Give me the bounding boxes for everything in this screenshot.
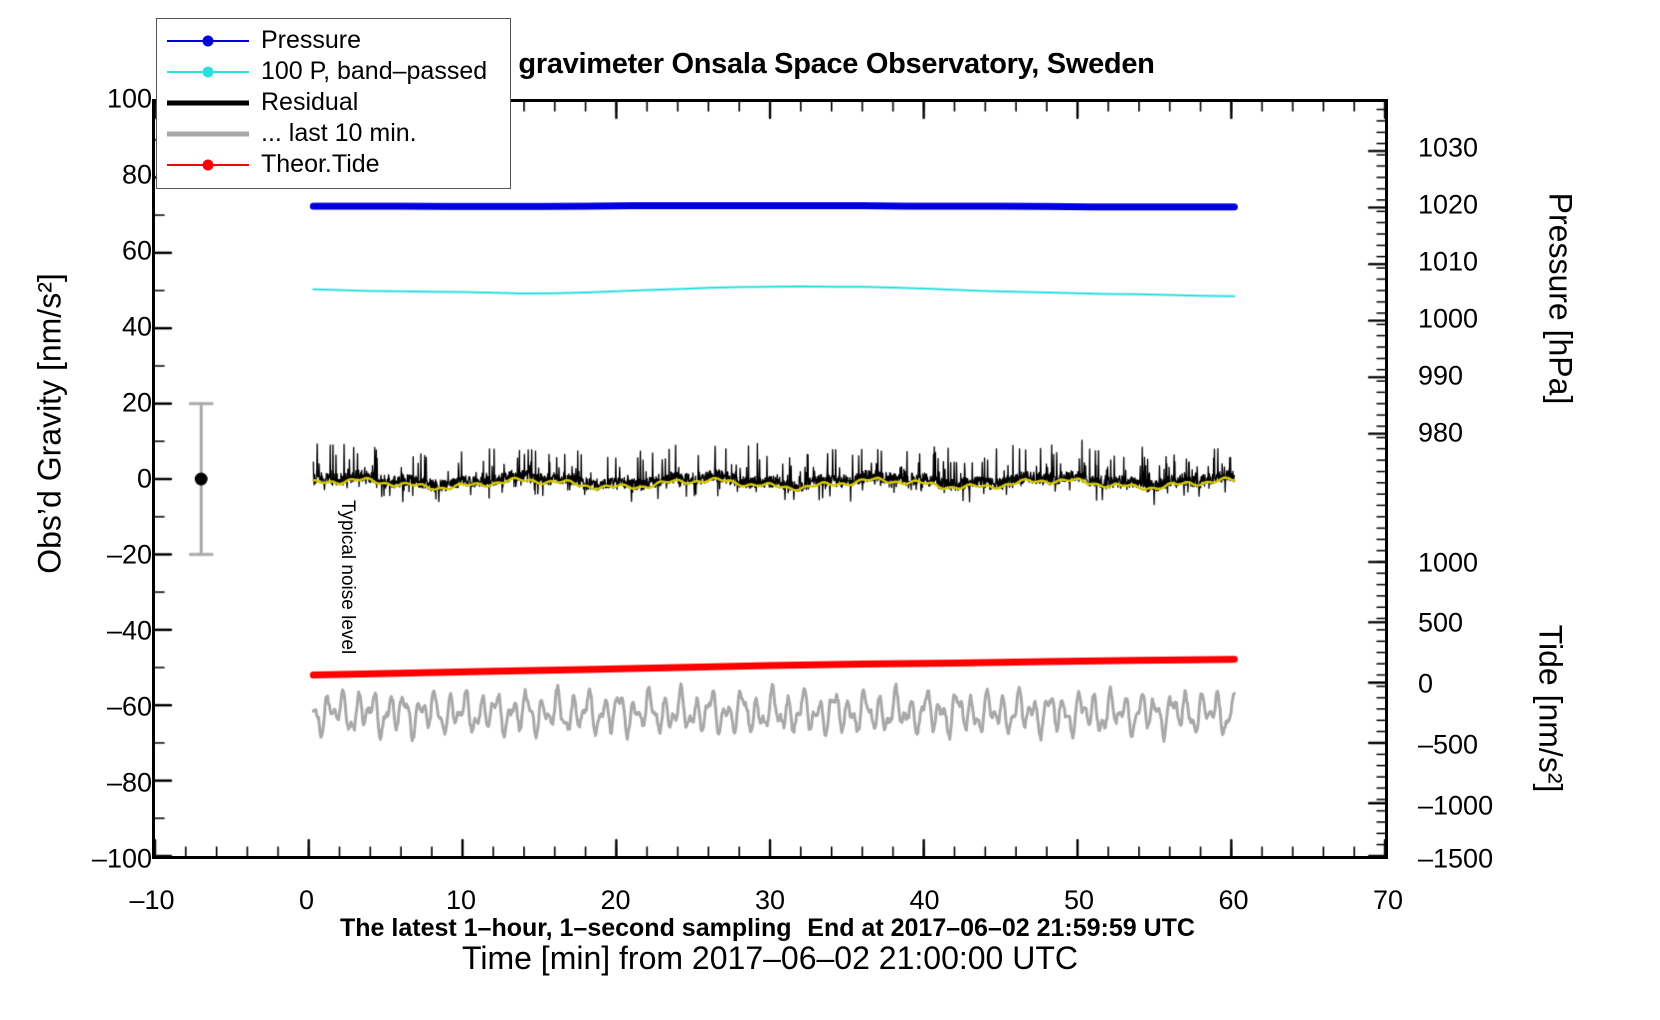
plot-area: The latest 1–hour, 1–second sampling End… [152,99,1388,859]
legend-item-label: ... last 10 min. [261,121,417,146]
legend-item[interactable]: Theor.Tide [167,149,500,180]
y-axis-left-label: Obs’d Gravity [nm/s²] [32,214,69,634]
y-tick-pressure: 1030 [1418,133,1478,164]
plot-canvas [155,102,1385,856]
y-tick-gravity: –40 [107,616,152,647]
y-axis-pressure-label: Pressure [hPa] [1542,119,1579,479]
legend-marker-dot [203,35,214,46]
y-tick-pressure: 980 [1418,418,1463,449]
legend: Pressure100 P, band–passedResidual... la… [156,18,511,189]
legend-swatch-icon [167,93,249,113]
y-tick-gravity: –60 [107,692,152,723]
x-tick: 10 [446,885,476,916]
typical-noise-level-label: Typical noise level [336,500,358,700]
legend-swatch-icon [167,124,249,144]
legend-marker-dot [203,66,214,77]
y-tick-pressure: 1020 [1418,190,1478,221]
y-tick-gravity: –100 [92,844,152,875]
y-tick-tide: –500 [1418,730,1478,761]
x-tick: 70 [1373,885,1403,916]
x-tick: 30 [755,885,785,916]
x-tick: 0 [299,885,314,916]
end-time-note: End at 2017–06–02 21:59:59 UTC [807,914,1195,943]
x-tick: 60 [1218,885,1248,916]
y-tick-pressure: 990 [1418,361,1463,392]
y-tick-gravity: 40 [122,312,152,343]
legend-item-label: Theor.Tide [261,152,380,177]
x-tick: 40 [909,885,939,916]
chart-page: SCG_054 gravimeter Onsala Space Observat… [0,0,1660,1020]
legend-item[interactable]: ... last 10 min. [167,118,500,149]
y-tick-pressure: 1010 [1418,247,1478,278]
y-tick-pressure: 1000 [1418,304,1478,335]
legend-item-label: Pressure [261,28,361,53]
legend-swatch-icon [167,31,249,51]
y-tick-gravity: 60 [122,236,152,267]
y-tick-gravity: 0 [137,464,152,495]
x-tick: 50 [1064,885,1094,916]
legend-item-label: 100 P, band–passed [261,59,487,84]
legend-item[interactable]: Residual [167,87,500,118]
y-tick-tide: –1500 [1418,844,1493,875]
sampling-note: The latest 1–hour, 1–second sampling [340,914,792,943]
y-tick-gravity: –20 [107,540,152,571]
y-tick-gravity: 100 [107,84,152,115]
x-tick: 20 [600,885,630,916]
legend-swatch-icon [167,62,249,82]
legend-swatch-icon [167,155,249,175]
y-tick-gravity: –80 [107,768,152,799]
legend-item[interactable]: Pressure [167,25,500,56]
y-axis-tide-label: Tide [nm/s²] [1532,559,1569,859]
legend-item[interactable]: 100 P, band–passed [167,56,500,87]
y-tick-gravity: 80 [122,160,152,191]
y-tick-tide: 1000 [1418,547,1478,578]
y-tick-gravity: 20 [122,388,152,419]
y-tick-tide: 0 [1418,669,1433,700]
x-axis-label: Time [min] from 2017–06–02 21:00:00 UTC [152,940,1388,977]
y-tick-tide: –1000 [1418,790,1493,821]
legend-item-label: Residual [261,90,358,115]
x-tick: –10 [129,885,174,916]
legend-marker-dot [203,159,214,170]
y-tick-tide: 500 [1418,608,1463,639]
